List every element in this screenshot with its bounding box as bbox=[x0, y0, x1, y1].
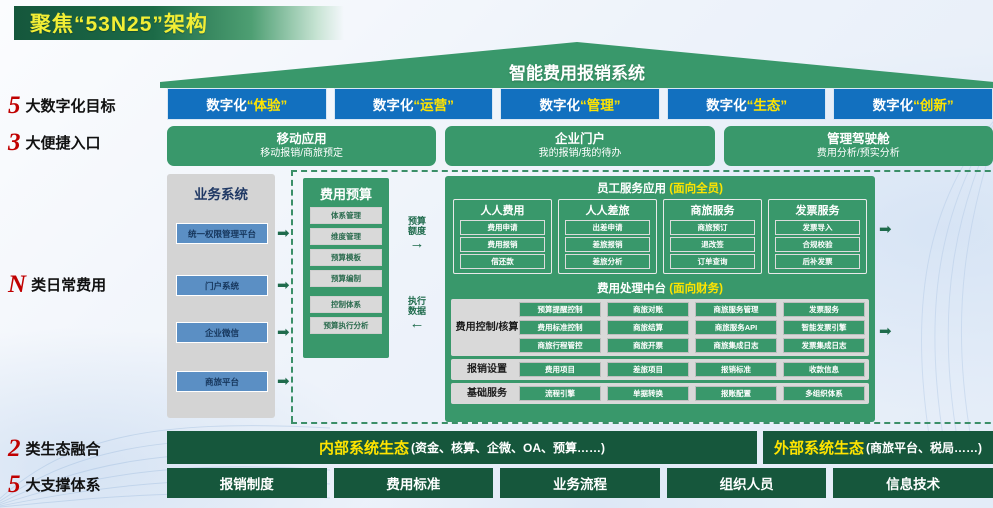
platform-group-control: 费用控制/核算 预算提醒控制 商旅对账 商旅服务管理 发票服务 费用标准控制 商… bbox=[451, 299, 869, 356]
architecture-roof: 智能费用报销系统 bbox=[160, 42, 993, 88]
rail-label-expenses: N 类日常费用 bbox=[8, 272, 158, 297]
slide-title-text: 聚焦“53N25”架构 bbox=[30, 8, 208, 38]
platform-cell[interactable]: 商旅服务API bbox=[695, 320, 777, 335]
rail-label-support: 5 大支撑体系 bbox=[8, 472, 158, 497]
rail-number: N bbox=[8, 272, 26, 297]
core-platform-panel: 员工服务应用 (面向全员) 人人费用 费用申请 费用报销 借还款 人人差旅 出差… bbox=[445, 176, 875, 422]
platform-cell[interactable]: 报账配置 bbox=[695, 386, 777, 401]
goal-ecosystem[interactable]: 数字化“生态” bbox=[667, 88, 827, 120]
platform-cell-row: 预算提醒控制 商旅对账 商旅服务管理 发票服务 bbox=[519, 302, 865, 317]
goal-prefix: 数字化 bbox=[373, 94, 414, 114]
rail-text: 大便捷入口 bbox=[26, 132, 101, 153]
ecosystem-title: 外部系统生态 bbox=[774, 437, 864, 458]
platform-group-label: 费用控制/核算 bbox=[455, 322, 519, 334]
budget-item-analysis[interactable]: 预算执行分析 bbox=[310, 317, 382, 334]
entry-title: 企业门户 bbox=[555, 132, 605, 146]
service-item[interactable]: 差旅分析 bbox=[565, 254, 650, 269]
goal-innovation[interactable]: 数字化“创新” bbox=[833, 88, 993, 120]
rail-number: 5 bbox=[8, 472, 21, 497]
business-item-travel[interactable]: 商旅平台 bbox=[176, 371, 268, 392]
budget-panel: 费用预算 体系管理 维度管理 预算模板 预算编制 控制体系 预算执行分析 bbox=[303, 178, 389, 358]
arrow-right-icon: ➡ bbox=[277, 374, 290, 389]
ecosystem-note: (商旅平台、税局……) bbox=[866, 439, 982, 456]
platform-cell[interactable]: 费用项目 bbox=[519, 362, 601, 377]
platform-cell-row: 商旅行程管控 商旅开票 商旅集成日志 发票集成日志 bbox=[519, 338, 865, 353]
support-item-standard[interactable]: 费用标准 bbox=[334, 468, 494, 498]
service-group-invoice: 发票服务 发票导入 合规校验 后补发票 bbox=[768, 199, 867, 274]
support-row: 报销制度 费用标准 业务流程 组织人员 信息技术 bbox=[167, 468, 993, 498]
rail-label-entries: 3 大便捷入口 bbox=[8, 130, 158, 155]
goal-experience[interactable]: 数字化“体验” bbox=[167, 88, 327, 120]
support-item-people[interactable]: 组织人员 bbox=[667, 468, 827, 498]
goal-prefix: 数字化 bbox=[206, 94, 247, 114]
platform-cell-row: 费用标准控制 商旅结算 商旅服务API 智能发票引擎 bbox=[519, 320, 865, 335]
employee-services-heading-main: 员工服务应用 bbox=[597, 183, 666, 195]
rail-text: 大支撑体系 bbox=[26, 474, 101, 495]
goal-keyword: “生态” bbox=[747, 94, 788, 114]
service-item[interactable]: 商旅预订 bbox=[670, 220, 755, 235]
service-group-title: 人人差旅 bbox=[562, 202, 653, 218]
budget-item-compile[interactable]: 预算编制 bbox=[310, 270, 382, 287]
platform-cell[interactable]: 商旅集成日志 bbox=[695, 338, 777, 353]
platform-cell[interactable]: 商旅行程管控 bbox=[519, 338, 601, 353]
entry-mobile-app[interactable]: 移动应用 移动报销/商旅预定 bbox=[167, 126, 436, 166]
platform-cell[interactable]: 流程引擎 bbox=[519, 386, 601, 401]
entry-subtitle: 我的报销/我的待办 bbox=[539, 147, 622, 160]
platform-group-cells: 预算提醒控制 商旅对账 商旅服务管理 发票服务 费用标准控制 商旅结算 商旅服务… bbox=[519, 302, 865, 353]
roof-label: 智能费用报销系统 bbox=[160, 42, 993, 88]
budget-item-dimension[interactable]: 维度管理 bbox=[310, 228, 382, 245]
rail-number: 2 bbox=[8, 436, 21, 461]
platform-group-basic-services: 基础服务 流程引擎 单据转换 报账配置 多组织体系 bbox=[451, 383, 869, 404]
flow-budget-quota: 预算 额度 → bbox=[395, 216, 439, 251]
goal-prefix: 数字化 bbox=[706, 94, 747, 114]
budget-item-control[interactable]: 控制体系 bbox=[310, 296, 382, 313]
business-item-permission[interactable]: 统一权限管理平台 bbox=[176, 223, 268, 244]
platform-cell[interactable]: 商旅开票 bbox=[607, 338, 689, 353]
platform-cell[interactable]: 发票服务 bbox=[783, 302, 865, 317]
rail-text: 类生态融合 bbox=[26, 438, 101, 459]
platform-cell[interactable]: 单据转换 bbox=[607, 386, 689, 401]
arrow-right-icon: ➡ bbox=[879, 324, 892, 339]
arrow-left-icon: ← bbox=[395, 316, 439, 331]
service-item[interactable]: 出差申请 bbox=[565, 220, 650, 235]
service-item[interactable]: 差旅报销 bbox=[565, 237, 650, 252]
boundary-dashed-left bbox=[291, 170, 293, 422]
rail-text: 类日常费用 bbox=[31, 274, 106, 295]
support-item-it[interactable]: 信息技术 bbox=[833, 468, 993, 498]
service-item[interactable]: 费用申请 bbox=[460, 220, 545, 235]
entry-subtitle: 移动报销/商旅预定 bbox=[260, 147, 343, 160]
platform-cell[interactable]: 报销标准 bbox=[695, 362, 777, 377]
arrow-right-icon: ➡ bbox=[277, 325, 290, 340]
platform-cell-row: 费用项目 差旅项目 报销标准 收款信息 bbox=[519, 362, 865, 377]
rail-text: 大数字化目标 bbox=[26, 95, 116, 116]
ecosystem-note: (资金、核算、企微、OA、预算……) bbox=[411, 439, 605, 456]
platform-cell[interactable]: 商旅服务管理 bbox=[695, 302, 777, 317]
business-item-wecom[interactable]: 企业微信 bbox=[176, 322, 268, 343]
arrow-right-icon: ➡ bbox=[277, 278, 290, 293]
flow-line-1: 预算 bbox=[395, 216, 439, 226]
platform-group-cells: 费用项目 差旅项目 报销标准 收款信息 bbox=[519, 362, 865, 377]
service-item[interactable]: 费用报销 bbox=[460, 237, 545, 252]
platform-cell[interactable]: 预算提醒控制 bbox=[519, 302, 601, 317]
expense-platform-heading-note: (面向财务) bbox=[669, 283, 723, 295]
entry-title: 移动应用 bbox=[277, 132, 327, 146]
service-item[interactable]: 发票导入 bbox=[775, 220, 860, 235]
entry-points-row: 移动应用 移动报销/商旅预定 企业门户 我的报销/我的待办 管理驾驶舱 费用分析… bbox=[167, 126, 993, 166]
goal-keyword: “创新” bbox=[913, 94, 954, 114]
goal-keyword: “管理” bbox=[580, 94, 621, 114]
ecosystem-internal[interactable]: 内部系统生态 (资金、核算、企微、OA、预算……) bbox=[167, 431, 757, 464]
support-item-policy[interactable]: 报销制度 bbox=[167, 468, 327, 498]
platform-cell[interactable]: 多组织体系 bbox=[783, 386, 865, 401]
goal-keyword: “运营” bbox=[413, 94, 454, 114]
middle-band: 业务系统 统一权限管理平台 门户系统 企业微信 商旅平台 ➡ ➡ ➡ ➡ 费用预… bbox=[167, 174, 993, 429]
business-item-portal[interactable]: 门户系统 bbox=[176, 275, 268, 296]
boundary-dashed-top bbox=[291, 170, 993, 172]
entry-subtitle: 费用分析/预实分析 bbox=[817, 147, 900, 160]
boundary-dashed-bottom bbox=[291, 422, 993, 424]
platform-group-reimbursement-settings: 报销设置 费用项目 差旅项目 报销标准 收款信息 bbox=[451, 359, 869, 380]
service-group-title: 商旅服务 bbox=[667, 202, 758, 218]
platform-cell[interactable]: 发票集成日志 bbox=[783, 338, 865, 353]
budget-item-system[interactable]: 体系管理 bbox=[310, 207, 382, 224]
service-item[interactable]: 借还款 bbox=[460, 254, 545, 269]
system-name: 智能费用报销系统 bbox=[509, 59, 645, 88]
platform-cell[interactable]: 差旅项目 bbox=[607, 362, 689, 377]
digital-goals-row: 数字化“体验” 数字化“运营” 数字化“管理” 数字化“生态” 数字化“创新” bbox=[167, 88, 993, 120]
goal-prefix: 数字化 bbox=[873, 94, 914, 114]
ecosystem-title: 内部系统生态 bbox=[319, 437, 409, 458]
budget-item-template[interactable]: 预算模板 bbox=[310, 249, 382, 266]
rail-number: 5 bbox=[8, 93, 21, 118]
service-group-personal-travel: 人人差旅 出差申请 差旅报销 差旅分析 bbox=[558, 199, 657, 274]
rail-label-goals: 5 大数字化目标 bbox=[8, 93, 158, 118]
platform-cell[interactable]: 收款信息 bbox=[783, 362, 865, 377]
platform-group-label: 基础服务 bbox=[455, 388, 519, 400]
business-system-title: 业务系统 bbox=[167, 174, 275, 203]
platform-cell[interactable]: 智能发票引擎 bbox=[783, 320, 865, 335]
ecosystem-external[interactable]: 外部系统生态 (商旅平台、税局……) bbox=[763, 431, 993, 464]
platform-cell[interactable]: 商旅结算 bbox=[607, 320, 689, 335]
arrow-right-icon: ➡ bbox=[277, 226, 290, 241]
platform-cell[interactable]: 费用标准控制 bbox=[519, 320, 601, 335]
flow-line-1: 执行 bbox=[395, 296, 439, 306]
entry-enterprise-portal[interactable]: 企业门户 我的报销/我的待办 bbox=[445, 126, 714, 166]
arrow-right-icon: ➡ bbox=[879, 222, 892, 237]
arrow-right-icon: → bbox=[395, 236, 439, 251]
budget-title: 费用预算 bbox=[303, 178, 389, 203]
expense-platform-heading: 费用处理中台 (面向财务) bbox=[445, 274, 875, 296]
goal-operation[interactable]: 数字化“运营” bbox=[334, 88, 494, 120]
employee-services-row: 人人费用 费用申请 费用报销 借还款 人人差旅 出差申请 差旅报销 差旅分析 商… bbox=[445, 196, 875, 274]
service-group-business-travel: 商旅服务 商旅预订 退改签 订单查询 bbox=[663, 199, 762, 274]
slide-title-banner: 聚焦“53N25”架构 bbox=[14, 6, 344, 40]
platform-cell-row: 流程引擎 单据转换 报账配置 多组织体系 bbox=[519, 386, 865, 401]
ecosystem-row: 内部系统生态 (资金、核算、企微、OA、预算……) 外部系统生态 (商旅平台、税… bbox=[167, 431, 993, 464]
goal-prefix: 数字化 bbox=[539, 94, 580, 114]
goal-management[interactable]: 数字化“管理” bbox=[500, 88, 660, 120]
service-group-title: 人人费用 bbox=[457, 202, 548, 218]
support-item-process[interactable]: 业务流程 bbox=[500, 468, 660, 498]
employee-services-heading: 员工服务应用 (面向全员) bbox=[445, 176, 875, 196]
entry-title: 管理驾驶舱 bbox=[827, 132, 890, 146]
business-system-panel: 业务系统 统一权限管理平台 门户系统 企业微信 商旅平台 bbox=[167, 174, 275, 418]
employee-services-heading-note: (面向全员) bbox=[669, 183, 723, 195]
flow-execution-data: 执行 数据 ← bbox=[395, 296, 439, 331]
service-item[interactable]: 退改签 bbox=[670, 237, 755, 252]
rail-number: 3 bbox=[8, 130, 21, 155]
service-group-personal-expense: 人人费用 费用申请 费用报销 借还款 bbox=[453, 199, 552, 274]
rail-label-ecosystem: 2 类生态融合 bbox=[8, 436, 158, 461]
service-item[interactable]: 合规校验 bbox=[775, 237, 860, 252]
goal-keyword: “体验” bbox=[247, 94, 288, 114]
platform-cell[interactable]: 商旅对账 bbox=[607, 302, 689, 317]
platform-group-cells: 流程引擎 单据转换 报账配置 多组织体系 bbox=[519, 386, 865, 401]
service-item[interactable]: 订单查询 bbox=[670, 254, 755, 269]
platform-group-label: 报销设置 bbox=[455, 364, 519, 376]
service-item[interactable]: 后补发票 bbox=[775, 254, 860, 269]
entry-management-cockpit[interactable]: 管理驾驶舱 费用分析/预实分析 bbox=[724, 126, 993, 166]
expense-platform-heading-main: 费用处理中台 bbox=[597, 283, 666, 295]
service-group-title: 发票服务 bbox=[772, 202, 863, 218]
